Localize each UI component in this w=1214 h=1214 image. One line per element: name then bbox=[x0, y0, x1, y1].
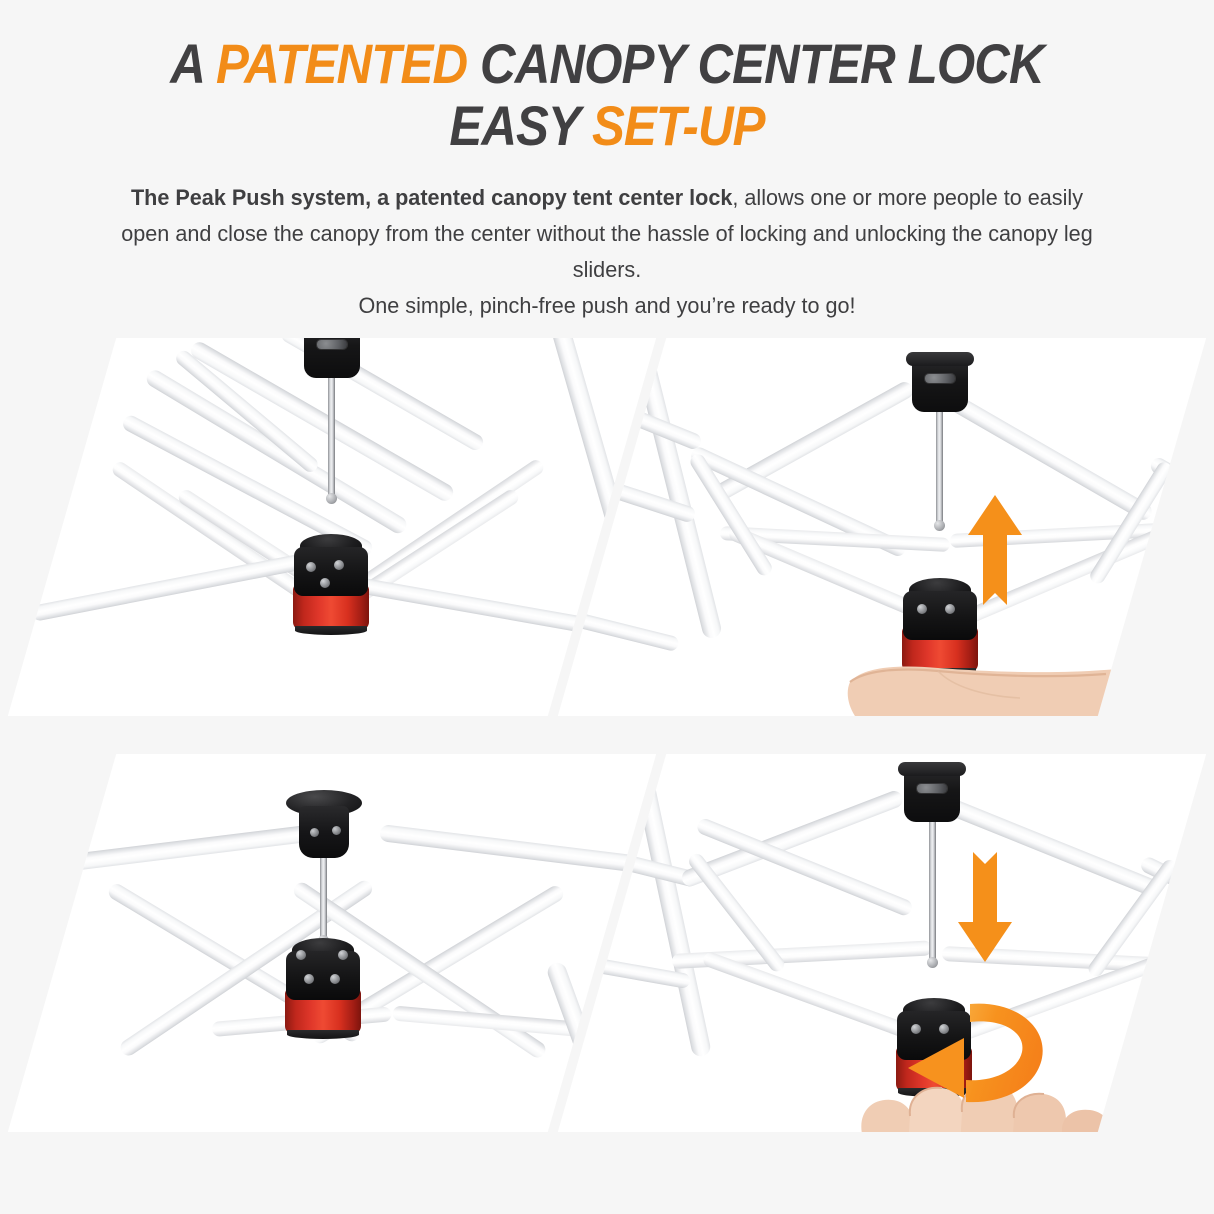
subtitle-closing-line: One simple, pinch-free push and you’re r… bbox=[358, 293, 855, 318]
center-lock-hub bbox=[286, 938, 360, 1000]
page-title-line-1: A PATENTED CANOPY CENTER LOCK bbox=[73, 36, 1141, 92]
hub-screw bbox=[296, 950, 306, 960]
peak-connector bbox=[904, 764, 960, 822]
subtitle-bold-lead: The Peak Push system, a patented canopy … bbox=[131, 185, 732, 210]
roof-tube bbox=[707, 379, 916, 505]
peak-cap-screw bbox=[332, 826, 341, 835]
peak-connector bbox=[912, 354, 968, 412]
panel-2-photo bbox=[612, 338, 1152, 716]
center-pull-rod bbox=[328, 366, 335, 498]
hub-screw bbox=[334, 560, 344, 570]
hub-body bbox=[294, 547, 368, 596]
title-easy: EASY bbox=[449, 94, 592, 157]
hub-screw bbox=[917, 604, 927, 614]
title-highlight-patented: PATENTED bbox=[216, 32, 467, 95]
center-lock-hub bbox=[294, 534, 368, 596]
roof-tube bbox=[379, 824, 656, 876]
page-title-line-2: EASY SET-UP bbox=[73, 98, 1141, 154]
panel-collapsed-open bbox=[8, 338, 656, 716]
page-subtitle: The Peak Push system, a patented canopy … bbox=[24, 180, 1189, 324]
hub-screw bbox=[338, 950, 348, 960]
title-prefix: A bbox=[170, 32, 216, 95]
peak-cap-body bbox=[299, 806, 349, 858]
peak-cap bbox=[286, 790, 362, 860]
panel-3-photo bbox=[62, 754, 602, 1132]
peak-connector bbox=[304, 338, 360, 378]
center-pull-rod bbox=[936, 400, 943, 525]
hub-screw bbox=[320, 578, 330, 588]
infographic-page: A PATENTED CANOPY CENTER LOCK EASY SET-U… bbox=[0, 0, 1214, 1214]
header: A PATENTED CANOPY CENTER LOCK EASY SET-U… bbox=[0, 36, 1214, 324]
center-pull-rod bbox=[929, 810, 936, 962]
hub-screw bbox=[330, 974, 340, 984]
title-highlight-setup: SET-UP bbox=[592, 94, 765, 157]
hand-open-palm bbox=[842, 638, 1206, 716]
arrow-rotate-icon bbox=[866, 990, 1056, 1120]
panel-release-down bbox=[558, 754, 1206, 1132]
title-suffix: CANOPY CENTER LOCK bbox=[467, 32, 1044, 95]
panel-4-photo bbox=[612, 754, 1152, 1132]
panel-grid bbox=[0, 334, 1214, 1152]
panel-1-photo bbox=[62, 338, 602, 716]
panel-locked bbox=[8, 754, 656, 1132]
center-pull-rod bbox=[320, 854, 327, 940]
peak-cap-screw bbox=[310, 828, 319, 837]
panel-push-up bbox=[558, 338, 1206, 716]
hub-screw bbox=[306, 562, 316, 572]
hub-screw bbox=[304, 974, 314, 984]
hub-screw bbox=[945, 604, 955, 614]
arrow-up-icon bbox=[966, 493, 1024, 605]
arrow-down-icon bbox=[956, 852, 1014, 964]
